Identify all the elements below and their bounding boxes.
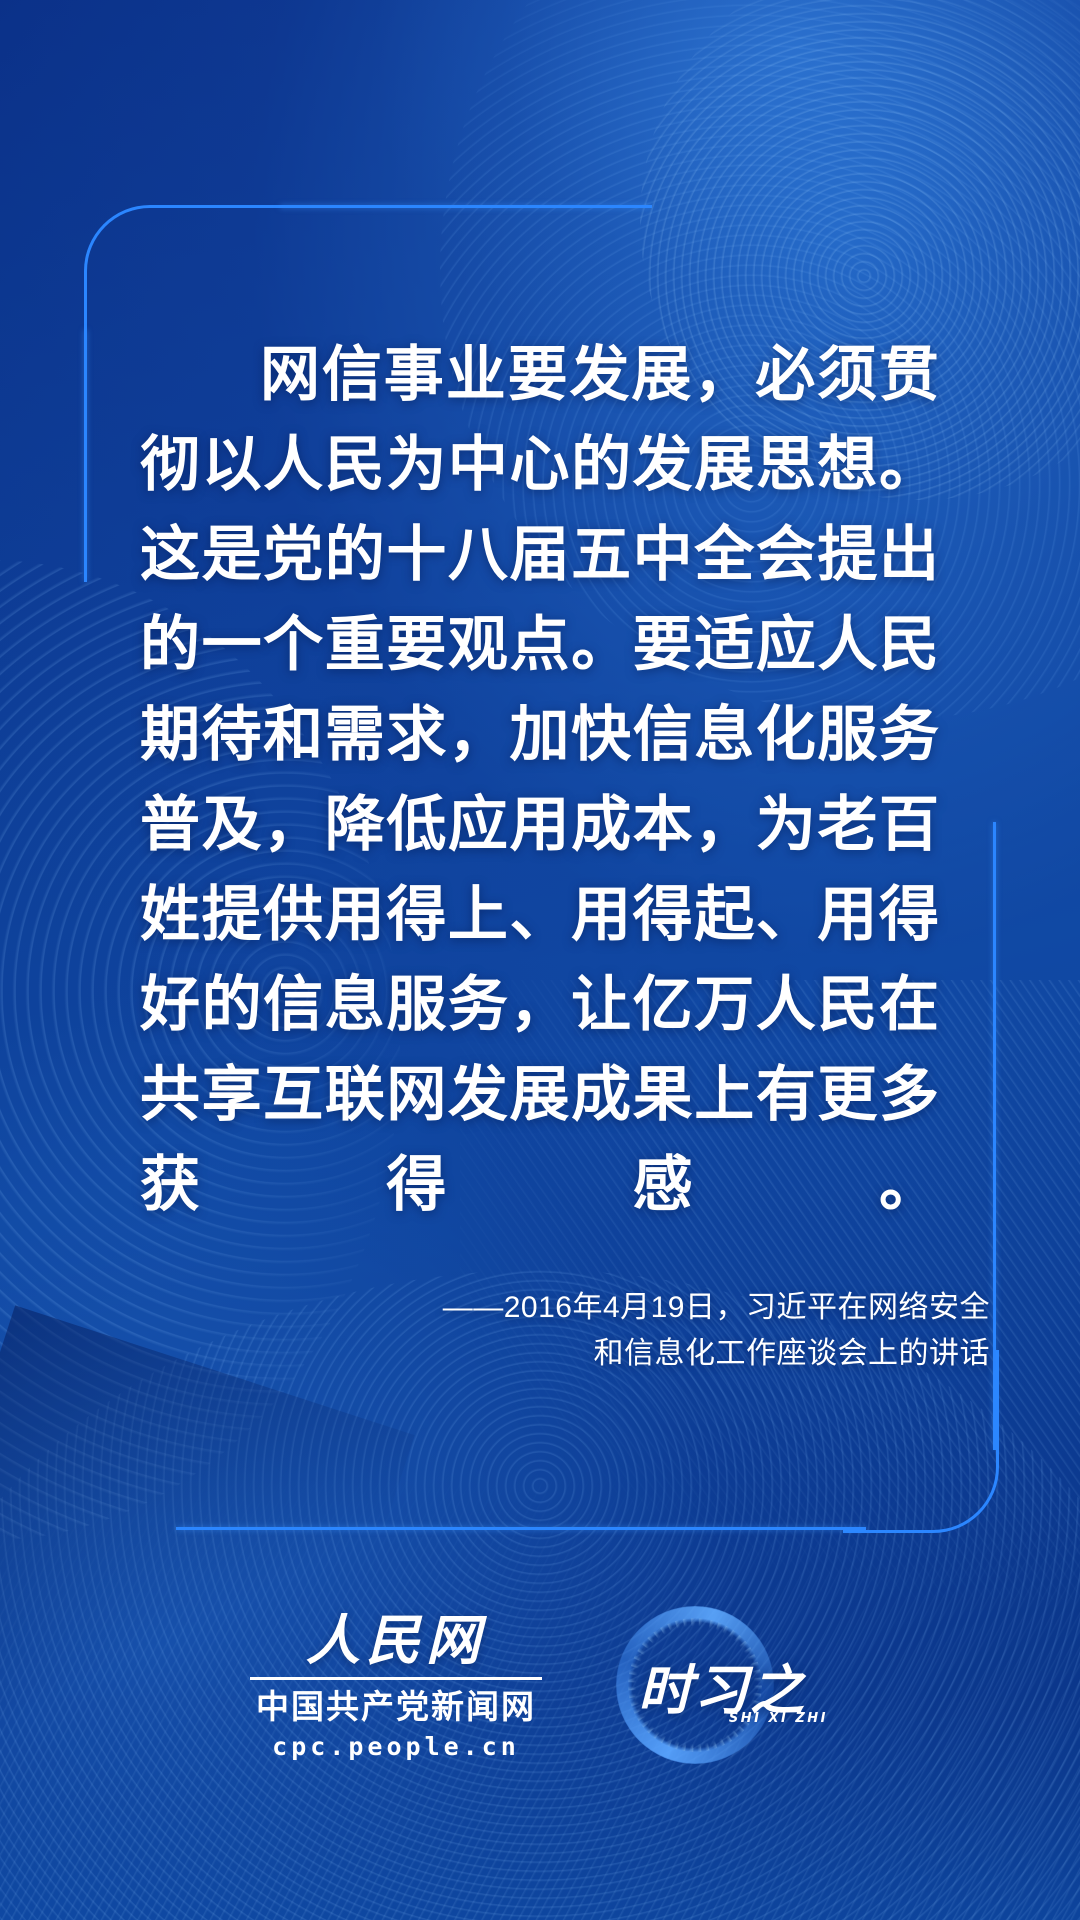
people-cn-divider xyxy=(250,1677,542,1680)
frame-line-bottom xyxy=(176,1527,866,1530)
people-cn-subtitle: 中国共产党新闻网 xyxy=(256,1688,536,1726)
shixizhi-pinyin: SHI XI ZHI xyxy=(729,1711,828,1726)
people-cn-url: cpc.people.cn xyxy=(272,1732,520,1761)
people-cn-logo: 人民网 中国共产党新闻网 cpc.people.cn xyxy=(246,1610,546,1761)
frame-line-left xyxy=(84,330,87,582)
citation-block: ——2016年4月19日，习近平在网络安全 和信息化工作座谈会上的讲话 xyxy=(180,1285,990,1377)
citation-line-1: ——2016年4月19日，习近平在网络安全 xyxy=(180,1285,990,1331)
quote-text: 网信事业要发展，必须贯彻以人民为中心的发展思想。这是党的十八届五中全会提出的一个… xyxy=(140,330,940,1320)
poster-canvas: 网信事业要发展，必须贯彻以人民为中心的发展思想。这是党的十八届五中全会提出的一个… xyxy=(0,0,1080,1920)
citation-line-2: 和信息化工作座谈会上的讲话 xyxy=(180,1331,990,1377)
frame-line-right xyxy=(993,822,996,1450)
frame-line-top xyxy=(280,205,652,208)
frame-corner-bottom-right xyxy=(843,1350,999,1533)
shixizhi-logo: 时习之 SHI XI ZHI xyxy=(594,1600,834,1770)
footer-logos: 人民网 中国共产党新闻网 cpc.people.cn 时习之 SHI XI ZH… xyxy=(0,1600,1080,1770)
people-cn-wordmark: 人民网 xyxy=(306,1610,486,1670)
